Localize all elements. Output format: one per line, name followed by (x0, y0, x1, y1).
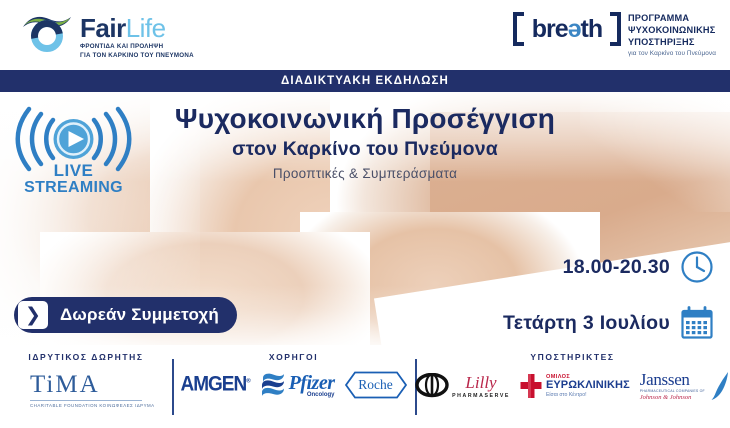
tima-divider (30, 400, 142, 401)
free-participation-button[interactable]: ❯ Δωρεάν Συμμετοχή (14, 297, 237, 333)
fairlife-wordmark: FairLife (80, 15, 194, 41)
breath-line-4: για τον Καρκίνο του Πνεύμονα (628, 50, 716, 57)
breath-bracket-right-icon (610, 12, 621, 46)
event-when-block: 18.00-20.30 Τετάρτη 3 Ιουλίου (503, 250, 714, 340)
breath-bracket-mark-icon: breəth (513, 12, 621, 46)
hero-section: Ψυχοκοινωνική Προσέγγιση στον Καρκίνο το… (0, 92, 730, 345)
breath-wordmark: breəth (525, 15, 609, 43)
supporters-column: ΥΠΟΣΤΗΡΙΚΤΕΣ Lilly PHARMASERVE (415, 345, 730, 428)
janssen-wordmark: Janssen (640, 371, 705, 388)
breath-logo[interactable]: breəth ΠΡΟΓΡΑΜΜΑ ΨΥΧΟΚΟΙΝΩΝΙΚΗΣ ΥΠΟΣΤΗΡΙ… (513, 12, 716, 57)
free-participation-label: Δωρεάν Συμμετοχή (60, 305, 219, 325)
chevron-right-icon: ❯ (18, 301, 48, 329)
supporters-heading: ΥΠΟΣΤΗΡΙΚΤΕΣ (530, 352, 614, 362)
event-date-row: Τετάρτη 3 Ιουλίου (503, 306, 714, 340)
calendar-icon (680, 306, 714, 340)
pfizer-logo[interactable]: Pfizer Oncology (260, 372, 335, 398)
logo-header-bar: FairLife ΦΡΟΝΤΙΔΑ ΚΑΙ ΠΡΟΛΗΨΗ ΓΙΑ ΤΟΝ ΚΑ… (0, 0, 730, 70)
fairlife-logo[interactable]: FairLife ΦΡΟΝΤΙΔΑ ΚΑΙ ΠΡΟΛΗΨΗ ΓΙΑ ΤΟΝ ΚΑ… (22, 10, 194, 61)
janssen-tagline: PHARMACEUTICAL COMPANIES OF (640, 390, 705, 394)
fairlife-word-fair: Fair (80, 13, 126, 43)
live-label: LIVE (6, 162, 141, 180)
janssen-mark-icon (710, 371, 730, 401)
amgen-logo[interactable]: AMGEN® (180, 373, 249, 398)
amgen-wordmark: AMGEN (180, 373, 246, 397)
breath-word-pre: bre (532, 15, 568, 43)
breath-bracket-left-icon (513, 12, 524, 46)
roche-wordmark: Roche (358, 377, 393, 393)
johnson-johnson-wordmark: Johnson & Johnson (640, 395, 705, 402)
fairlife-word-life: Life (126, 13, 166, 43)
lilly-pharmaserve-logo[interactable]: Lilly PHARMASERVE (415, 373, 510, 399)
janssen-logo[interactable]: Janssen PHARMACEUTICAL COMPANIES OF John… (640, 371, 730, 401)
pharmaserve-mark-icon (415, 373, 449, 399)
breath-line-3: ΥΠΟΣΤΗΡΙΞΗΣ (628, 37, 716, 49)
tima-logo[interactable]: TiMA CHARITABLE FOUNDATION ΚΟΙΝΩΦΕΛΕΣ ΙΔ… (30, 371, 142, 411)
event-type-banner: ΔΙΑΔΙΚΤΥΑΚΗ ΕΚΔΗΛΩΣΗ (0, 70, 730, 92)
event-type-label: ΔΙΑΔΙΚΤΥΑΚΗ ΕΚΔΗΛΩΣΗ (281, 75, 449, 87)
clock-icon (680, 250, 714, 284)
live-streaming-badge: LIVE STREAMING (6, 104, 141, 204)
fairlife-mark-icon (22, 10, 74, 54)
footer-divider-1 (172, 359, 174, 415)
event-time-row: 18.00-20.30 (503, 250, 714, 284)
breath-line-2: ΨΥΧΟΚΟΙΝΩΝΙΚΗΣ (628, 25, 716, 37)
red-cross-icon (520, 373, 542, 399)
breath-word-post: th (581, 15, 603, 43)
founding-donor-heading: ΙΔΡΥΤΙΚΟΣ ΔΩΡΗΤΗΣ (28, 352, 143, 362)
amgen-trademark: ® (246, 378, 249, 385)
fairlife-tagline-line2: ΓΙΑ ΤΟΝ ΚΑΡΚΙΝΟ ΤΟΥ ΠΝΕΥΜΟΝΑ (80, 52, 194, 61)
pfizer-mark-icon (260, 372, 286, 398)
event-date: Τετάρτη 3 Ιουλίου (503, 312, 670, 335)
euroclinic-logo[interactable]: ΟΜΙΛΟΣ ΕΥΡΩΚΛΙΝΙΚΗΣ Είσαι στο Κέντρο! (520, 373, 630, 399)
event-time: 18.00-20.30 (563, 256, 670, 279)
breath-word-schwa: ə (568, 15, 581, 43)
sponsors-heading: ΧΟΡΗΓΟΙ (269, 352, 318, 362)
euroclinic-wordmark: ΕΥΡΩΚΛΙΝΙΚΗΣ (546, 380, 630, 392)
pfizer-wordmark: Pfizer (289, 373, 335, 393)
roche-logo[interactable]: Roche (345, 371, 407, 399)
event-poster: FairLife ΦΡΟΝΤΙΔΑ ΚΑΙ ΠΡΟΛΗΨΗ ΓΙΑ ΤΟΝ ΚΑ… (0, 0, 730, 428)
fairlife-tagline-line1: ΦΡΟΝΤΙΔΑ ΚΑΙ ΠΡΟΛΗΨΗ (80, 43, 194, 52)
tima-wordmark: TiMA (30, 371, 142, 399)
tima-subtitle: CHARITABLE FOUNDATION ΚΟΙΝΩΦΕΛΕΣ ΙΔΡΥΜΑ (30, 403, 142, 408)
streaming-label: STREAMING (6, 180, 141, 197)
sponsors-column: ΧΟΡΗΓΟΙ AMGEN® Pfizer Oncology (172, 345, 415, 428)
founding-donor-column: ΙΔΡΥΤΙΚΟΣ ΔΩΡΗΤΗΣ TiMA CHARITABLE FOUNDA… (0, 345, 172, 428)
lilly-wordmark: Lilly (465, 374, 496, 391)
pharmaserve-wordmark: PHARMASERVE (452, 393, 510, 399)
breath-line-1: ΠΡΟΓΡΑΜΜΑ (628, 13, 716, 25)
sponsors-footer: ΙΔΡΥΤΙΚΟΣ ΔΩΡΗΤΗΣ TiMA CHARITABLE FOUNDA… (0, 345, 730, 428)
euroclinic-slogan: Είσαι στο Κέντρο! (546, 393, 630, 399)
